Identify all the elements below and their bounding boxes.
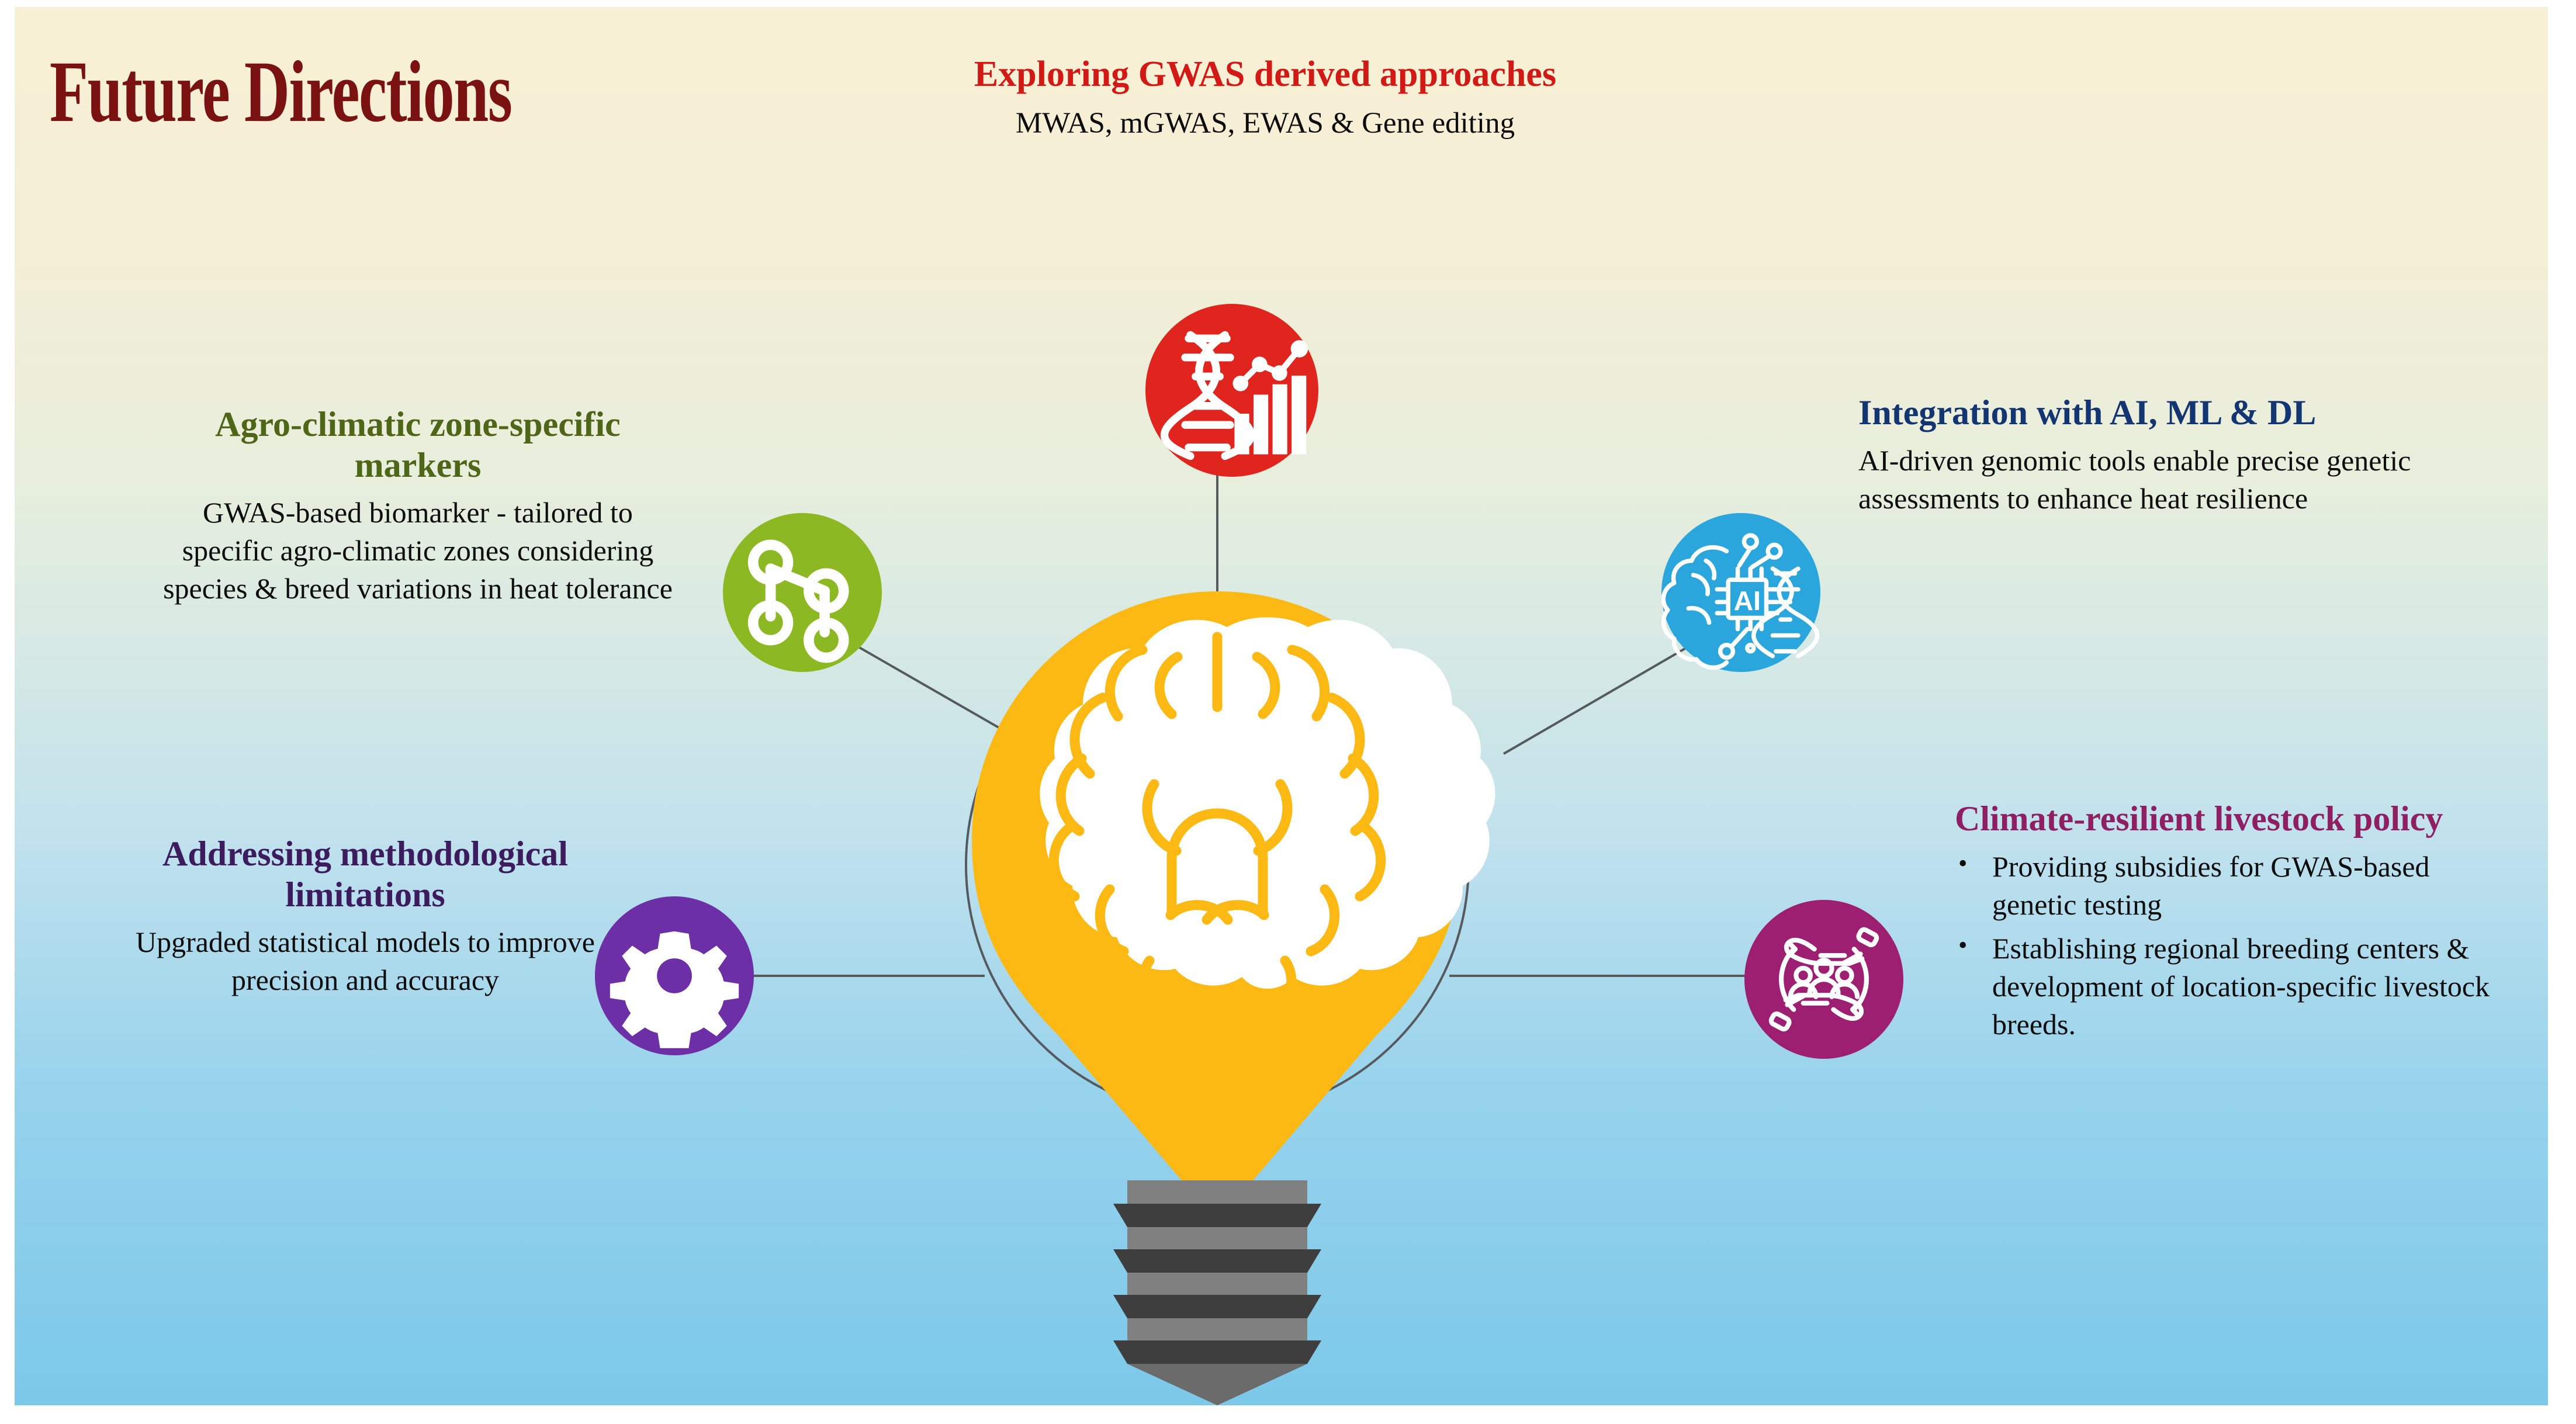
block-body: MWAS, mGWAS, EWAS & Gene editing (874, 104, 1657, 143)
hands-community-glyph (1744, 900, 1903, 1059)
gear-icon[interactable] (595, 896, 754, 1055)
gear-glyph (595, 896, 754, 1055)
block-exploring-gwas: Exploring GWAS derived approaches MWAS, … (874, 54, 1657, 143)
lightbulb-brain-icon (972, 591, 1495, 1405)
policy-bullet-list: Providing subsidies for GWAS-based genet… (1955, 848, 2516, 1044)
dna-barchart-icon[interactable] (1145, 304, 1318, 477)
block-methodological-limitations: Addressing methodological limitations Up… (114, 834, 617, 999)
list-item: Providing subsidies for GWAS-based genet… (1992, 848, 2516, 924)
network-nodes-icon[interactable] (723, 513, 882, 672)
block-integration-ai: Integration with AI, ML & DL AI-driven g… (1858, 393, 2443, 518)
hands-community-icon[interactable] (1744, 900, 1903, 1059)
block-body: AI-driven genomic tools enable precise g… (1858, 442, 2443, 518)
block-heading: Addressing methodological limitations (114, 834, 617, 915)
infographic-canvas: Future Directions (15, 7, 2548, 1405)
network-nodes-glyph (723, 513, 882, 672)
block-heading: Integration with AI, ML & DL (1858, 393, 2443, 434)
list-item: Establishing regional breeding centers &… (1992, 930, 2516, 1044)
block-body: Upgraded statistical models to improve p… (114, 923, 617, 999)
dna-barchart-glyph (1145, 304, 1318, 477)
ai-chip-label: AI (1734, 585, 1761, 616)
center-diagram (15, 7, 2548, 1405)
block-heading: Agro-climatic zone-specific markers (155, 404, 681, 486)
block-heading: Climate-resilient livestock policy (1955, 799, 2516, 840)
block-agro-climatic: Agro-climatic zone-specific markers GWAS… (155, 404, 681, 608)
brain-ai-chip-dna-glyph: AI (1661, 513, 1820, 672)
connector-layer (15, 7, 2548, 1405)
block-climate-resilient-policy: Climate-resilient livestock policy Provi… (1955, 799, 2516, 1049)
brain-ai-chip-dna-icon[interactable]: AI (1661, 513, 1820, 672)
bulb-base (1113, 1180, 1321, 1405)
block-heading: Exploring GWAS derived approaches (874, 54, 1657, 96)
block-body: GWAS-based biomarker - tailored to speci… (155, 494, 681, 608)
